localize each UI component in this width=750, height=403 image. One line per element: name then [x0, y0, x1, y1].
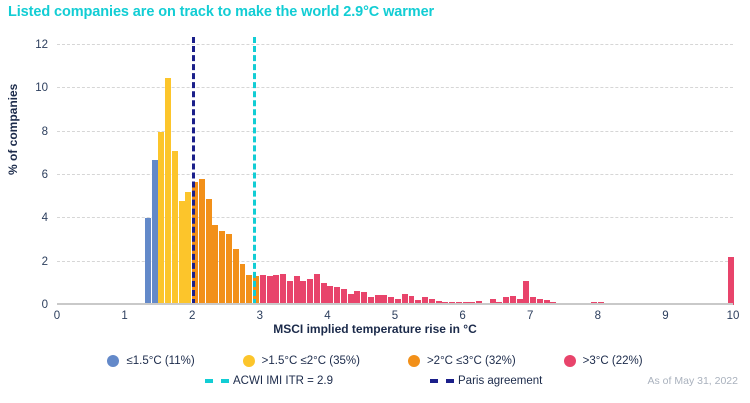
page-title: Listed companies are on track to make th…	[8, 4, 434, 20]
paris-line-swatch	[430, 379, 454, 383]
bar	[300, 281, 306, 305]
bar	[294, 276, 300, 305]
bar	[185, 192, 191, 305]
x-tick-label: 10	[727, 310, 740, 322]
legend-categories: ≤1.5°C (11%)>1.5°C ≤2°C (35%)>2°C ≤3°C (…	[0, 355, 750, 367]
acwi-line-swatch	[205, 379, 229, 383]
x-tick-label: 6	[459, 310, 465, 322]
bar	[165, 78, 171, 306]
bar	[152, 160, 158, 305]
plot-area: 024681012 012345678910	[57, 45, 733, 305]
y-tick-label: 0	[42, 299, 48, 311]
x-tick-label: 4	[324, 310, 330, 322]
bar	[145, 218, 151, 305]
legend-dot-icon	[107, 355, 119, 367]
x-tick-label: 9	[662, 310, 668, 322]
bar	[321, 283, 327, 305]
legend-item-1[interactable]: ≤1.5°C (11%)	[107, 355, 194, 367]
y-axis-label: % of companies	[6, 84, 20, 175]
x-axis-line	[57, 303, 733, 305]
bar	[246, 275, 252, 305]
acwi-imi-itr-line	[253, 37, 256, 305]
legend-dot-icon	[408, 355, 420, 367]
legend-label-acwi: ACWI IMI ITR = 2.9	[233, 375, 333, 387]
gridline	[57, 87, 733, 88]
legend-item-3[interactable]: >2°C ≤3°C (32%)	[408, 355, 516, 367]
legend-item-4[interactable]: >3°C (22%)	[564, 355, 643, 367]
bar	[287, 281, 293, 305]
bar	[273, 275, 279, 305]
bar	[280, 274, 286, 305]
y-tick-label: 2	[42, 256, 48, 268]
legend-item-paris[interactable]: Paris agreement	[430, 375, 542, 387]
x-tick-label: 2	[189, 310, 195, 322]
bar	[314, 274, 320, 305]
y-tick-label: 4	[42, 212, 48, 224]
x-tick-label: 1	[121, 310, 127, 322]
bar	[158, 132, 164, 305]
bar	[179, 201, 185, 305]
chart-container: Listed companies are on track to make th…	[0, 0, 750, 403]
bar	[523, 281, 529, 305]
bar	[212, 225, 218, 305]
bar	[226, 234, 232, 306]
legend-label-paris: Paris agreement	[458, 375, 542, 387]
x-tick-label: 7	[527, 310, 533, 322]
bar	[206, 199, 212, 305]
legend-label: >3°C (22%)	[583, 355, 643, 367]
bar	[260, 275, 266, 305]
footnote: As of May 31, 2022	[648, 375, 738, 387]
x-tick-label: 0	[54, 310, 60, 322]
x-tick-label: 5	[392, 310, 398, 322]
legend-label: ≤1.5°C (11%)	[126, 355, 194, 367]
legend-dot-icon	[564, 355, 576, 367]
paris-agreement-line	[192, 37, 195, 305]
y-tick-label: 12	[35, 39, 48, 51]
legend-label: >1.5°C ≤2°C (35%)	[262, 355, 360, 367]
legend-item-acwi[interactable]: ACWI IMI ITR = 2.9	[205, 375, 333, 387]
y-tick-label: 6	[42, 169, 48, 181]
x-tick-label: 3	[257, 310, 263, 322]
x-tick-label: 8	[595, 310, 601, 322]
bar	[172, 151, 178, 305]
legend-dot-icon	[243, 355, 255, 367]
bar	[267, 276, 273, 305]
bar	[307, 279, 313, 305]
y-tick-label: 10	[35, 82, 48, 94]
bar	[199, 179, 205, 305]
bar	[233, 249, 239, 305]
bar	[219, 231, 225, 305]
legend-label: >2°C ≤3°C (32%)	[427, 355, 516, 367]
bar	[728, 257, 734, 305]
gridline	[57, 44, 733, 45]
y-tick-label: 8	[42, 126, 48, 138]
bar	[240, 264, 246, 305]
x-axis-label: MSCI implied temperature rise in °C	[0, 322, 750, 336]
legend-item-2[interactable]: >1.5°C ≤2°C (35%)	[243, 355, 360, 367]
